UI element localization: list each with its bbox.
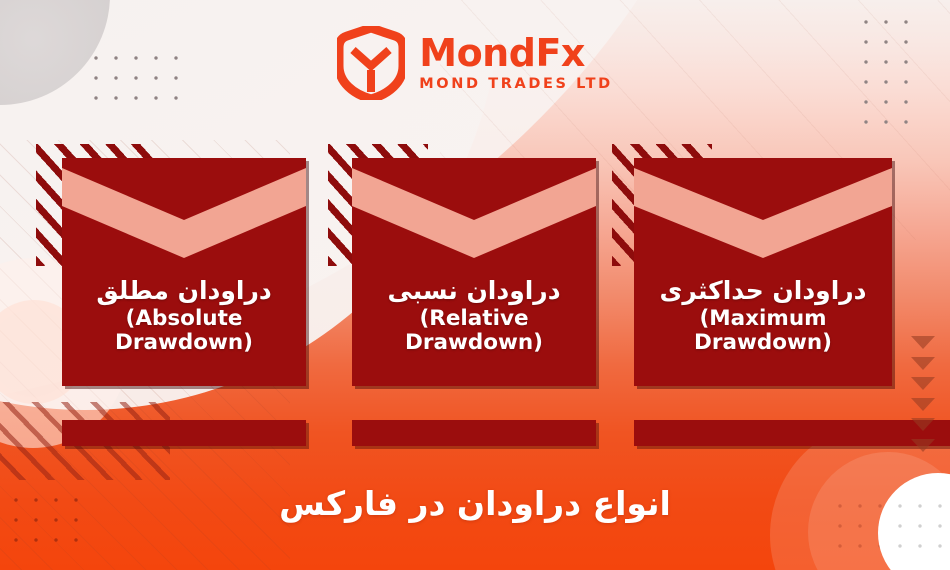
card-body: دراودان نسبی (Relative Drawdown) — [352, 158, 596, 386]
card-title-fa: دراودان حداکثری — [634, 276, 892, 306]
card-body: دراودان مطلق (Absolute Drawdown) — [62, 158, 306, 386]
chevron-band-icon — [352, 158, 596, 258]
card-absolute-drawdown[interactable]: دراودان مطلق (Absolute Drawdown) — [62, 158, 306, 386]
card-label: دراودان مطلق (Absolute Drawdown) — [62, 276, 306, 356]
card-relative-drawdown[interactable]: دراودان نسبی (Relative Drawdown) — [352, 158, 596, 386]
chevron-band-icon — [634, 158, 892, 258]
card-label: دراودان حداکثری (Maximum Drawdown) — [634, 276, 892, 356]
brand-name: MondFx — [419, 34, 612, 72]
brand-header: MondFx MOND TRADES LTD — [0, 26, 950, 100]
page-title: انواع دراودان در فارکس — [0, 484, 950, 524]
card-base-bar-3 — [634, 420, 950, 446]
brand-tagline: MOND TRADES LTD — [419, 77, 612, 92]
card-base-bar-2 — [352, 420, 596, 446]
card-maximum-drawdown[interactable]: دراودان حداکثری (Maximum Drawdown) — [634, 158, 892, 386]
card-title-en: (Relative Drawdown) — [352, 307, 596, 356]
card-label: دراودان نسبی (Relative Drawdown) — [352, 276, 596, 356]
infographic-canvas: MondFx MOND TRADES LTD دراودان مطلق (Abs… — [0, 0, 950, 570]
brand-wordmark: MondFx MOND TRADES LTD — [419, 34, 612, 92]
drawdown-cards-group: دراودان مطلق (Absolute Drawdown) دراودان… — [0, 158, 950, 448]
shield-chevron-logo-icon — [337, 26, 405, 100]
card-title-en: (Absolute Drawdown) — [62, 307, 306, 356]
card-body: دراودان حداکثری (Maximum Drawdown) — [634, 158, 892, 386]
card-title-fa: دراودان نسبی — [352, 276, 596, 306]
card-title-en: (Maximum Drawdown) — [634, 307, 892, 356]
card-base-bar-1 — [62, 420, 306, 446]
card-title-fa: دراودان مطلق — [62, 276, 306, 306]
chevron-band-icon — [62, 158, 306, 258]
